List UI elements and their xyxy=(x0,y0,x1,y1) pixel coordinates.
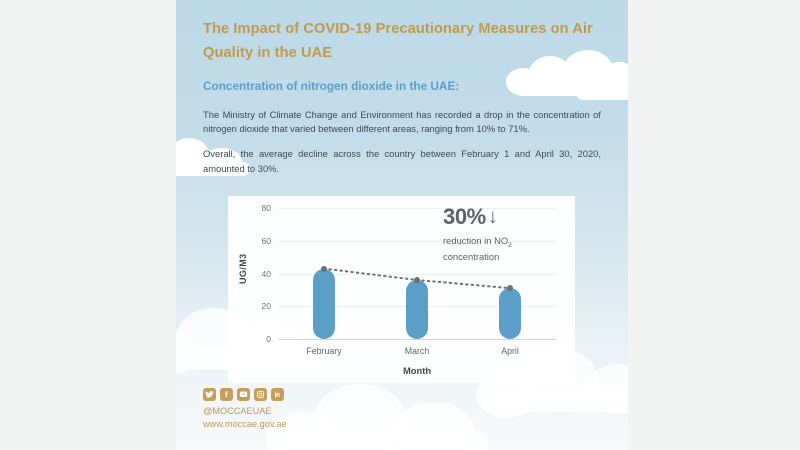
chart-x-axis-label: Month xyxy=(278,365,556,376)
infographic-poster: The Impact of COVID-19 Precautionary Mea… xyxy=(176,0,628,450)
screenshot-canvas: The Impact of COVID-19 Precautionary Mea… xyxy=(0,0,800,450)
y-tick-40: 40 xyxy=(261,269,271,279)
chart-panel: UG/M3 80 60 40 20 0 xyxy=(228,196,575,383)
annotation-subscript: 2 xyxy=(508,242,512,249)
y-tick-0: 0 xyxy=(266,334,271,344)
cloud-bottom-center xyxy=(266,378,496,450)
page-title: The Impact of COVID-19 Precautionary Mea… xyxy=(203,18,601,65)
footer: @MOCCAEUAE www.moccae.gov.ae xyxy=(203,388,287,432)
section-subtitle: Concentration of nitrogen dioxide in the… xyxy=(203,79,601,94)
y-tick-80: 80 xyxy=(261,203,271,213)
x-tick-february: February xyxy=(306,346,341,356)
data-point-february xyxy=(321,266,327,272)
twitter-icon[interactable] xyxy=(203,388,216,401)
chart-annotation: 30% ↓ reduction in NO2 concentration xyxy=(443,206,561,264)
letterbox-right xyxy=(628,0,800,450)
body-paragraph-2: Overall, the average decline across the … xyxy=(203,147,601,176)
down-arrow-icon: ↓ xyxy=(488,207,498,227)
annotation-line-2: concentration xyxy=(443,251,499,262)
poster-text-block: The Impact of COVID-19 Precautionary Mea… xyxy=(203,18,601,187)
x-tick-april: April xyxy=(501,346,519,356)
social-handle: @MOCCAEUAE xyxy=(203,405,287,418)
annotation-description: reduction in NO2 concentration xyxy=(443,234,561,264)
youtube-icon[interactable] xyxy=(237,388,250,401)
website-url[interactable]: www.moccae.gov.ae xyxy=(203,418,287,431)
annotation-line-1: reduction in NO xyxy=(443,235,508,246)
data-point-march xyxy=(414,277,420,283)
y-tick-60: 60 xyxy=(261,236,271,246)
y-tick-20: 20 xyxy=(261,301,271,311)
x-axis-line: 0 xyxy=(278,339,556,340)
facebook-icon[interactable] xyxy=(220,388,233,401)
social-links xyxy=(203,388,287,401)
x-tick-march: March xyxy=(405,346,429,356)
linkedin-icon[interactable] xyxy=(271,388,284,401)
annotation-headline: 30% ↓ xyxy=(443,206,561,228)
instagram-icon[interactable] xyxy=(254,388,267,401)
letterbox-left xyxy=(0,0,176,450)
chart-y-axis-label: UG/M3 xyxy=(238,253,248,284)
annotation-value: 30% xyxy=(443,206,486,228)
body-paragraph-1: The Ministry of Climate Change and Envir… xyxy=(203,108,601,137)
data-point-april xyxy=(507,285,513,291)
